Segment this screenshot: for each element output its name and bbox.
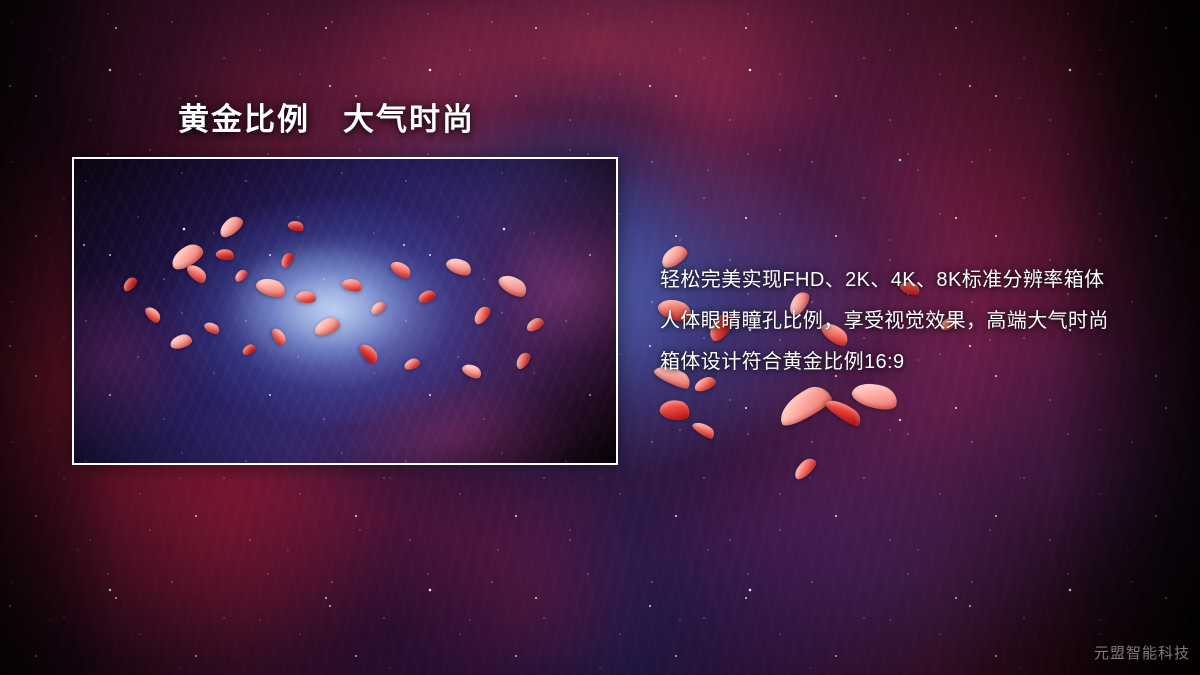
description-line-2: 人体眼睛瞳孔比例，享受视觉效果，高端大气时尚	[660, 301, 1160, 342]
watermark-label: 元盟智能科技	[1094, 642, 1190, 663]
description-line-1: 轻松完美实现FHD、2K、4K、8K标准分辨率箱体	[660, 260, 1160, 301]
presentation-slide: 黄金比例 大气时尚 轻松完美实现FHD、2K、4K、8K标准分辨率箱体 人体眼睛…	[0, 0, 1200, 675]
galaxy-photo-vignette	[74, 159, 616, 463]
description-paragraph: 轻松完美实现FHD、2K、4K、8K标准分辨率箱体 人体眼睛瞳孔比例，享受视觉效…	[660, 260, 1160, 383]
rose-petal	[658, 397, 692, 424]
slide-title: 黄金比例 大气时尚	[178, 101, 475, 140]
rose-petal	[773, 381, 835, 429]
description-line-3: 箱体设计符合黄金比例16:9	[660, 342, 1160, 383]
rose-petal	[849, 377, 900, 414]
rose-petal	[791, 455, 819, 482]
galaxy-photo-frame	[72, 157, 618, 465]
rose-petal	[691, 418, 717, 441]
rose-petal	[823, 394, 864, 430]
